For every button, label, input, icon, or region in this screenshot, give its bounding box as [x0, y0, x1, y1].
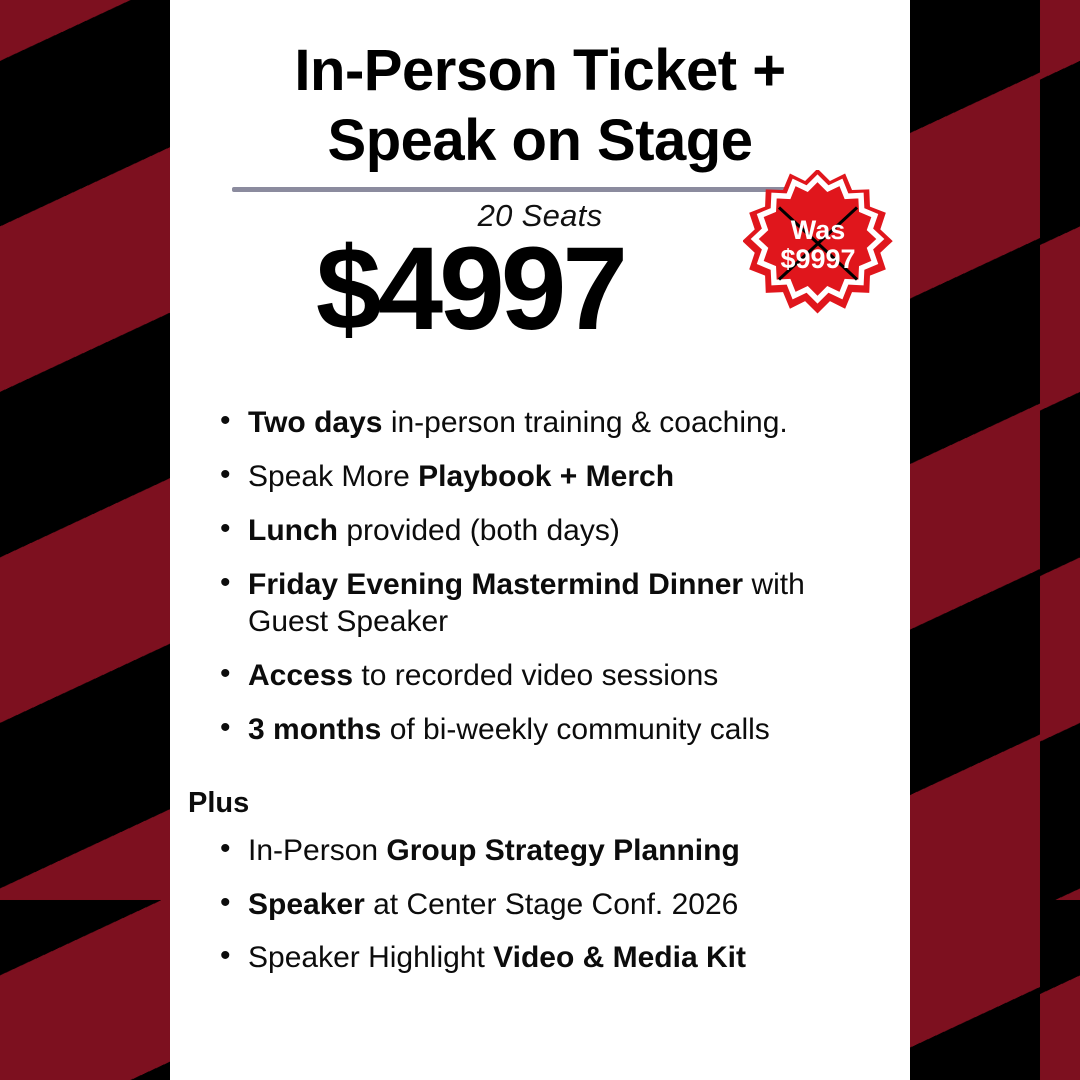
feature-bold: Friday Evening Mastermind Dinner — [248, 568, 743, 601]
list-item: Speak More Playbook + Merch — [218, 458, 890, 496]
plus-text: In-Person — [248, 834, 386, 867]
title-line-1: In-Person Ticket + — [194, 36, 886, 106]
starburst-icon — [743, 170, 893, 320]
feature-text: provided (both days) — [338, 514, 620, 547]
feature-text: to recorded video sessions — [353, 659, 718, 692]
feature-bold: 3 months — [248, 713, 381, 746]
page-title: In-Person Ticket + Speak on Stage — [170, 0, 910, 175]
feature-text: of bi-weekly community calls — [381, 713, 769, 746]
feature-bold: Lunch — [248, 514, 338, 547]
feature-bold: Playbook + Merch — [418, 460, 674, 493]
plus-section-label: Plus — [170, 787, 910, 820]
plus-text: Speaker Highlight — [248, 941, 493, 974]
plus-text: at Center Stage Conf. 2026 — [365, 888, 739, 921]
feature-text: in-person training & coaching. — [382, 406, 787, 439]
feature-text: Speak More — [248, 460, 418, 493]
list-item: Friday Evening Mastermind Dinner with Gu… — [218, 566, 890, 642]
pricing-card: In-Person Ticket + Speak on Stage 20 Sea… — [170, 0, 910, 1080]
features-list: Two days in-person training & coaching. … — [170, 404, 910, 749]
list-item: Speaker Highlight Video & Media Kit — [218, 939, 890, 977]
plus-bold: Video & Media Kit — [493, 941, 746, 974]
price-row: $4997 Was $9997 — [170, 236, 910, 356]
plus-list: In-Person Group Strategy Planning Speake… — [170, 832, 910, 977]
feature-bold: Access — [248, 659, 353, 692]
list-item: Two days in-person training & coaching. — [218, 404, 890, 442]
pricing-poster: In-Person Ticket + Speak on Stage 20 Sea… — [0, 0, 1080, 1080]
list-item: In-Person Group Strategy Planning — [218, 832, 890, 870]
list-item: Lunch provided (both days) — [218, 512, 890, 550]
feature-bold: Two days — [248, 406, 382, 439]
was-price-starburst-badge: Was $9997 — [743, 170, 893, 320]
list-item: 3 months of bi-weekly community calls — [218, 711, 890, 749]
list-item: Speaker at Center Stage Conf. 2026 — [218, 886, 890, 924]
plus-bold: Group Strategy Planning — [386, 834, 739, 867]
list-item: Access to recorded video sessions — [218, 657, 890, 695]
plus-bold: Speaker — [248, 888, 365, 921]
title-line-2: Speak on Stage — [194, 106, 886, 176]
